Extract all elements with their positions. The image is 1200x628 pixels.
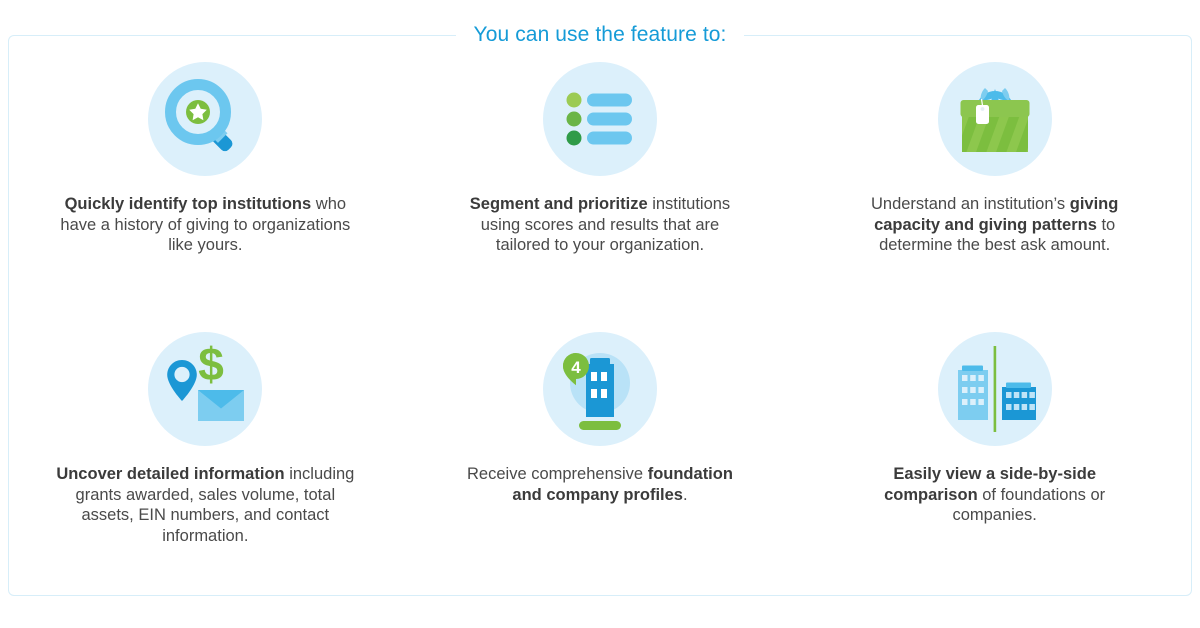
infographic-canvas: You can use the feature to: Quickly iden… bbox=[0, 0, 1200, 628]
magnifier-star-icon bbox=[148, 62, 262, 176]
feature-card-company-profiles: 4 Receive comprehensive foundation and c… bbox=[403, 332, 798, 592]
feature-grid: Quickly identify top institutions who ha… bbox=[8, 62, 1192, 592]
side-by-side-comparison-icon bbox=[938, 332, 1052, 446]
feature-caption: Uncover detailed information including g… bbox=[55, 464, 355, 546]
company-profile-icon: 4 bbox=[543, 332, 657, 446]
svg-text:$: $ bbox=[199, 338, 225, 390]
gift-box-icon bbox=[938, 62, 1052, 176]
feature-caption: Receive comprehensive foundation and com… bbox=[455, 464, 745, 505]
badge-count: 4 bbox=[571, 358, 581, 377]
feature-caption: Quickly identify top institutions who ha… bbox=[60, 194, 350, 256]
caption-bold: comparison bbox=[884, 486, 978, 504]
page-title-text: You can use the feature to: bbox=[456, 20, 745, 50]
caption-bold: patterns bbox=[1032, 216, 1097, 234]
caption-bold: Uncover detailed information bbox=[56, 465, 284, 483]
feature-caption: Easily view a side-by-side comparison of… bbox=[845, 464, 1145, 526]
feature-card-side-by-side: Easily view a side-by-side comparison of… bbox=[797, 332, 1192, 592]
caption-bold: Segment and prioritize bbox=[470, 195, 648, 213]
caption-text: your organization. bbox=[573, 236, 704, 254]
caption-bold: company profiles bbox=[546, 486, 683, 504]
feature-card-giving-capacity: Understand an institution’s giving capac… bbox=[797, 62, 1192, 332]
bulleted-list-icon bbox=[543, 62, 657, 176]
page-title: You can use the feature to: bbox=[0, 20, 1200, 50]
feature-card-segment-prioritize: Segment and prioritize institutions usin… bbox=[403, 62, 798, 332]
feature-card-quickly-identify: Quickly identify top institutions who ha… bbox=[8, 62, 403, 332]
feature-caption: Understand an institution’s giving capac… bbox=[845, 194, 1145, 256]
caption-text: Understand an institution’s bbox=[871, 195, 1065, 213]
feature-card-uncover-details: $ Uncover detailed information including… bbox=[8, 332, 403, 592]
caption-bold: Easily view a side-by-side bbox=[893, 465, 1096, 483]
caption-text: . bbox=[683, 486, 688, 504]
caption-text: Receive comprehensive bbox=[467, 465, 643, 483]
feature-caption: Segment and prioritize institutions usin… bbox=[455, 194, 745, 256]
caption-text: best ask amount. bbox=[985, 236, 1111, 254]
contact-details-icon: $ bbox=[148, 332, 262, 446]
caption-text: of foundations bbox=[978, 486, 1086, 504]
caption-bold: Quickly identify top institutions bbox=[65, 195, 312, 213]
